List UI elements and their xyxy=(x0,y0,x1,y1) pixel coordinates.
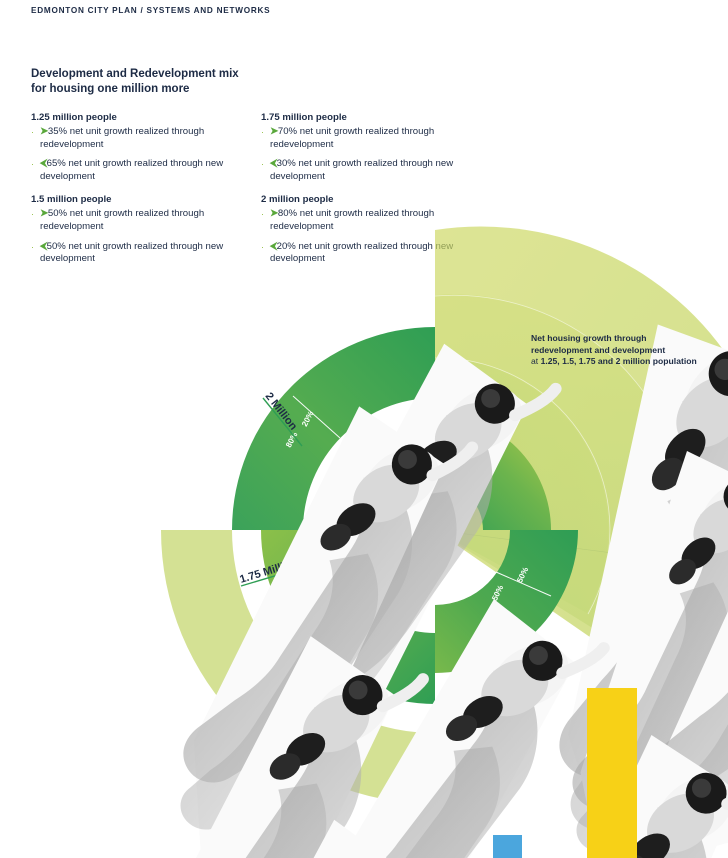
accent-blue-block xyxy=(493,835,522,858)
chart-caption-line-2-prefix: re xyxy=(531,345,539,355)
chart-caption-line-3: at 1.25, 1.5, 1.75 and 2 million populat… xyxy=(531,356,728,368)
accent-yellow-block xyxy=(587,688,637,858)
chart-caption-line-1: Net housing growth through xyxy=(531,333,728,345)
chart-caption-line-2: redevelopment and development xyxy=(531,345,728,357)
chart-caption: Net housing growth through redevelopment… xyxy=(531,333,728,368)
chart-caption-line-3-prefix: at xyxy=(531,356,541,366)
chart-caption-line-2-text: development and development xyxy=(539,345,665,355)
chart-caption-line-3-text: 1.25, 1.5, 1.75 and 2 million population xyxy=(541,356,697,366)
